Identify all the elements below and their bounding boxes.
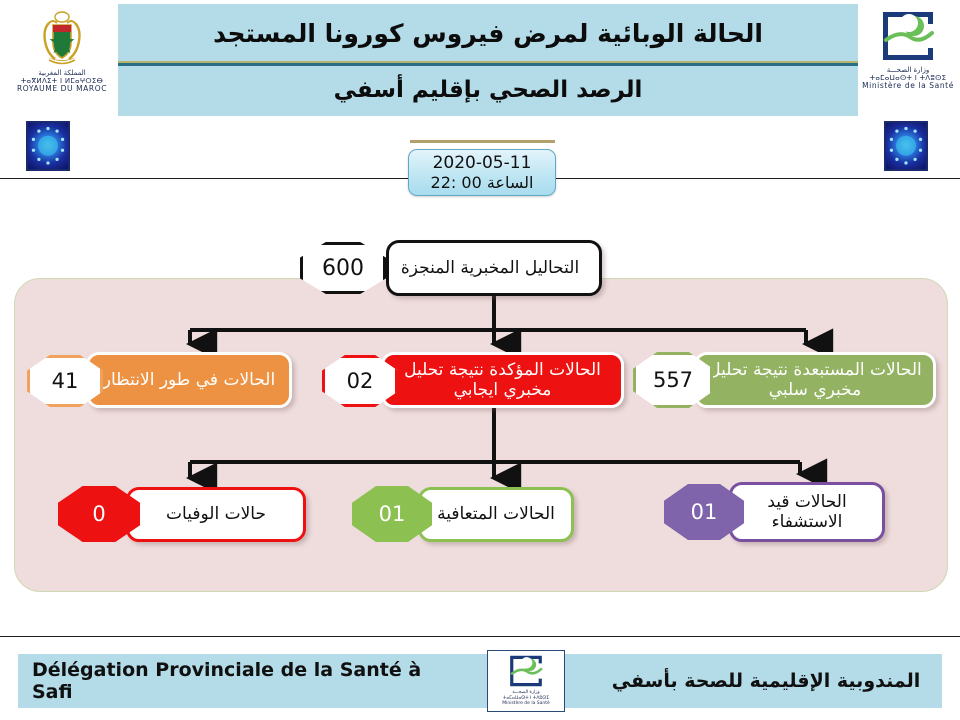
node-excluded-label-text: الحالات المستبعدة نتيجة تحليل مخبري سلبي xyxy=(697,360,933,400)
footer-logo-caption-fr: Ministère de la Santé xyxy=(502,701,550,707)
ministry-caption-fr: Ministère de la Santé xyxy=(862,82,954,90)
flow-diagram-panel xyxy=(14,278,948,592)
coronavirus-icon-left xyxy=(26,121,70,171)
footer-logo-caption: وزارة الصحـــة ⵜⴰⵎⴰⵡⴰⵙⵜ ⵏ ⵜⴷⵓⵙⵉ Ministèr… xyxy=(502,690,550,707)
page-title: الحالة الوبائية لمرض فيروس كورونا المستج… xyxy=(118,8,858,58)
node-confirmed-label-text: الحالات المؤكدة نتيجة تحليل مخبري ايجابي xyxy=(384,360,621,400)
node-death-label: حالات الوفيات xyxy=(126,487,306,542)
morocco-coat-of-arms-icon xyxy=(35,7,89,69)
page-header: الحالة الوبائية لمرض فيروس كورونا المستج… xyxy=(0,0,960,120)
ministry-caption-ar: وزارة الصحـــة xyxy=(862,66,954,74)
footer-text-ar: المندوبية الإقليمية للصحة بأسفي xyxy=(590,654,942,708)
node-lab-tests-label: التحاليل المخبرية المنجزة xyxy=(386,240,602,296)
footer-ministry-crescent-icon xyxy=(506,652,546,690)
node-pending-label: الحالات في طور الانتظار xyxy=(86,352,292,408)
node-pending-label-text: الحالات في طور الانتظار xyxy=(103,370,275,390)
report-timestamp-badge: 2020-05-11 الساعة 00 :22 xyxy=(408,149,556,196)
ministry-of-health-logo: وزارة الصحـــة ⵜⴰⵎⴰⵡⴰⵙⵜ ⵏ ⵜⴷⵓⵙⵉ Ministèr… xyxy=(862,4,954,116)
ministry-health-crescent-icon xyxy=(878,6,938,66)
node-confirmed-label: الحالات المؤكدة نتيجة تحليل مخبري ايجابي xyxy=(381,352,624,408)
royaume-du-maroc-logo: المملكة المغربية ⵜⴰⴳⵍⴷⵉⵜ ⵏ ⵍⵎⴰⵖⵔⵉⴱ ROYAU… xyxy=(8,4,116,116)
node-recovered-label: الحالات المتعافية xyxy=(418,487,574,542)
footer-ministry-logo: وزارة الصحـــة ⵜⴰⵎⴰⵡⴰⵙⵜ ⵏ ⵜⴷⵓⵙⵉ Ministèr… xyxy=(487,650,565,712)
coronavirus-icon-right xyxy=(884,121,928,171)
node-excluded-label: الحالات المستبعدة نتيجة تحليل مخبري سلبي xyxy=(694,352,936,408)
node-hospitalized-label-text: الحالات قيد الاستشفاء xyxy=(732,492,882,532)
coronavirus-spikes-icon-2 xyxy=(886,123,926,168)
footer-text-fr: Délégation Provinciale de la Santé à Saf… xyxy=(18,654,458,708)
royaume-caption-fr: ROYAUME DU MAROC xyxy=(17,85,107,93)
report-date: 2020-05-11 xyxy=(433,153,532,173)
page-subtitle: الرصد الصحي بإقليم أسفي xyxy=(118,66,858,114)
royaume-caption-ar: المملكة المغربية xyxy=(17,69,107,77)
ministry-logo-caption: وزارة الصحـــة ⵜⴰⵎⴰⵡⴰⵙⵜ ⵏ ⵜⴷⵓⵙⵉ Ministèr… xyxy=(862,66,954,90)
node-hospitalized-label: الحالات قيد الاستشفاء xyxy=(729,482,885,542)
date-accent-line xyxy=(410,140,555,143)
coronavirus-spikes-icon xyxy=(28,123,68,168)
footer-top-rule xyxy=(0,636,960,637)
royaume-logo-caption: المملكة المغربية ⵜⴰⴳⵍⴷⵉⵜ ⵏ ⵍⵎⴰⵖⵔⵉⴱ ROYAU… xyxy=(17,69,107,93)
report-time: الساعة 00 :22 xyxy=(431,173,534,193)
